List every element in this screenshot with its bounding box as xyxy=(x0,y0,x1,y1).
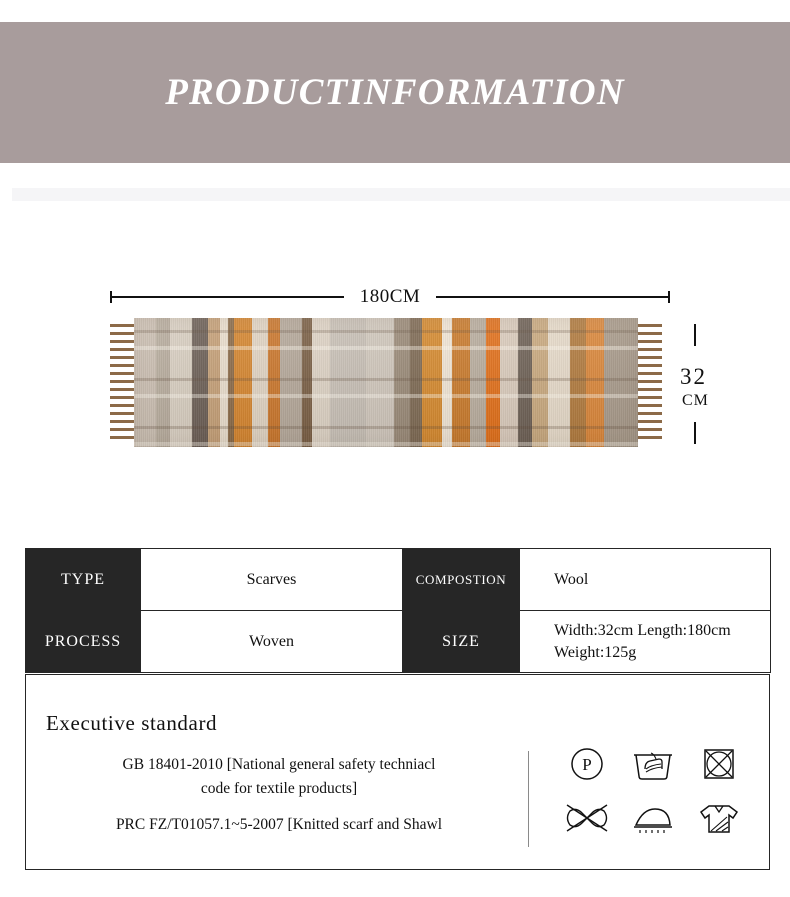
executive-standard-title: Executive standard xyxy=(46,711,217,736)
dry-clean-p-icon: P xyxy=(567,744,607,784)
spec-label-composition: COMPOSTION xyxy=(403,549,520,611)
panel-divider xyxy=(528,751,529,847)
page-header-banner: PRODUCTINFORMATION xyxy=(0,22,790,163)
page-title: PRODUCTINFORMATION xyxy=(165,71,625,114)
dimension-line-right xyxy=(436,296,670,298)
svg-text:P: P xyxy=(582,755,591,774)
size-line-weight: Weight:125g xyxy=(554,642,770,664)
scarf-fabric-plaid xyxy=(134,318,638,447)
dimension-line-left xyxy=(110,296,344,298)
width-dimension-indicator: 32 CM xyxy=(672,318,752,448)
header-accent-strip xyxy=(12,188,790,201)
table-row: PROCESS Woven SIZE Width:32cm Length:180… xyxy=(26,611,771,673)
product-image xyxy=(110,318,662,447)
width-dimension-unit: CM xyxy=(682,392,709,410)
spec-label-process: PROCESS xyxy=(26,611,141,673)
executive-standard-lines: GB 18401-2010 [National general safety t… xyxy=(44,753,514,837)
spec-value-composition: Wool xyxy=(520,549,771,611)
width-dimension-value: 32 xyxy=(680,364,707,390)
table-row: TYPE Scarves COMPOSTION Wool xyxy=(26,549,771,611)
dimension-tick-bottom xyxy=(694,422,696,444)
fringe-right xyxy=(638,320,662,445)
spec-label-type: TYPE xyxy=(26,549,141,611)
iron-low-icon xyxy=(630,801,676,835)
standard-line-gb-cont: code for textile products] xyxy=(44,777,514,801)
spec-value-size: Width:32cm Length:180cm Weight:125g xyxy=(520,611,771,673)
size-line-dimensions: Width:32cm Length:180cm xyxy=(554,620,770,642)
standard-line-gb: GB 18401-2010 [National general safety t… xyxy=(44,753,514,777)
spec-value-type: Scarves xyxy=(141,549,403,611)
hand-wash-icon xyxy=(631,745,675,783)
care-symbols-group: P xyxy=(554,737,754,845)
dry-in-shade-icon xyxy=(697,798,741,838)
do-not-wring-icon xyxy=(563,801,611,835)
spec-label-size: SIZE xyxy=(403,611,520,673)
dimension-tick-top xyxy=(694,324,696,346)
spec-value-process: Woven xyxy=(141,611,403,673)
specification-table: TYPE Scarves COMPOSTION Wool PROCESS Wov… xyxy=(25,548,771,673)
do-not-tumble-dry-icon xyxy=(699,744,739,784)
fringe-left xyxy=(110,320,134,445)
length-dimension-label: 180CM xyxy=(344,286,437,308)
executive-standard-panel: Executive standard GB 18401-2010 [Nation… xyxy=(25,674,770,870)
length-dimension-indicator: 180CM xyxy=(110,282,670,312)
standard-line-prc: PRC FZ/T01057.1~5-2007 [Knitted scarf an… xyxy=(44,813,514,837)
